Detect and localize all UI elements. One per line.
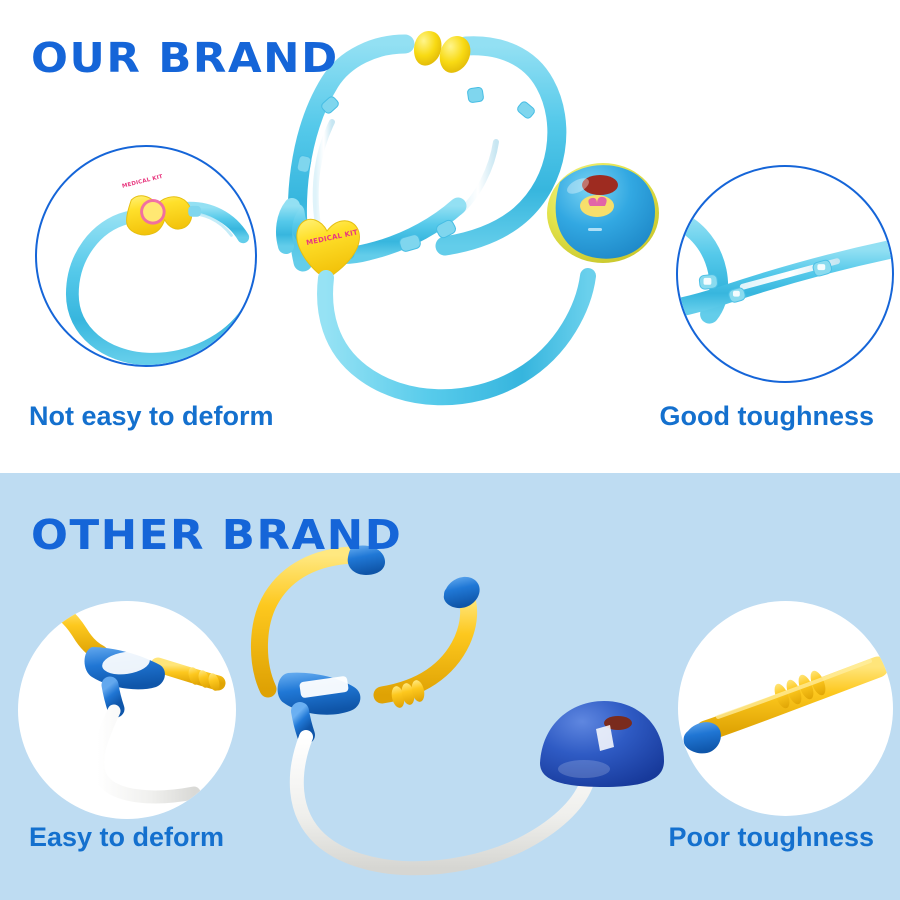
other-right-arm [382, 597, 469, 695]
other-chestpiece-dot [604, 716, 632, 730]
our-brand-panel: MEDICAL KIT MEDICAL KIT OUR BRAND Not ea… [0, 0, 900, 473]
other-eartip-right [444, 577, 480, 608]
other-hub [278, 673, 361, 715]
butterfly-sticker [580, 195, 614, 217]
our-brand-title: OUR BRAND [31, 38, 339, 79]
heart-sticker [582, 175, 618, 195]
eartip-left [414, 31, 442, 66]
other-chestpiece [540, 701, 664, 787]
eartip-right [440, 36, 471, 73]
chestpiece-base [547, 163, 659, 263]
tube-ribs [187, 666, 222, 692]
ribbed-tube-art [678, 601, 893, 816]
kinked-tube-art [18, 601, 236, 819]
caption-poor-toughness: Poor toughness [668, 824, 874, 851]
headset-right-arm [445, 46, 557, 246]
other-tube-ribs [390, 679, 426, 709]
detail-circle-easy-to-deform [18, 601, 236, 819]
headset-left-stub [284, 206, 292, 246]
heart-hub-main [297, 219, 360, 278]
chest-tube [325, 276, 588, 397]
chestpiece-cap [556, 165, 655, 259]
caption-good-toughness: Good toughness [660, 403, 874, 430]
other-chest-tube [297, 737, 586, 868]
headset-cross-tube [296, 206, 458, 255]
other-left-arm [259, 555, 352, 689]
other-brand-title: OTHER BRAND [31, 515, 402, 556]
other-hub-stem [300, 711, 306, 735]
comparison-infographic: MEDICAL KIT MEDICAL KIT OUR BRAND Not ea… [0, 0, 900, 900]
caption-easy-to-deform: Easy to deform [29, 824, 224, 851]
detail-circle-poor-toughness [678, 601, 893, 816]
headset-left-rod [316, 122, 332, 225]
chestpiece-slot [588, 228, 602, 231]
headset-right-rod [460, 142, 496, 212]
other-chestpiece-highlight [596, 725, 614, 751]
chestpiece-highlight [565, 175, 592, 197]
detail-circle-good-toughness [676, 165, 894, 383]
other-brand-panel: Doctor [0, 473, 900, 900]
blue-end-cap [684, 722, 721, 753]
caption-not-easy-to-deform: Not easy to deform [29, 403, 274, 430]
butterfly-glyph [588, 197, 606, 206]
medical-kit-sticker-label: MEDICAL KIT [306, 232, 347, 247]
other-hub-sticker [299, 676, 349, 699]
tube-joint-art [678, 167, 892, 381]
